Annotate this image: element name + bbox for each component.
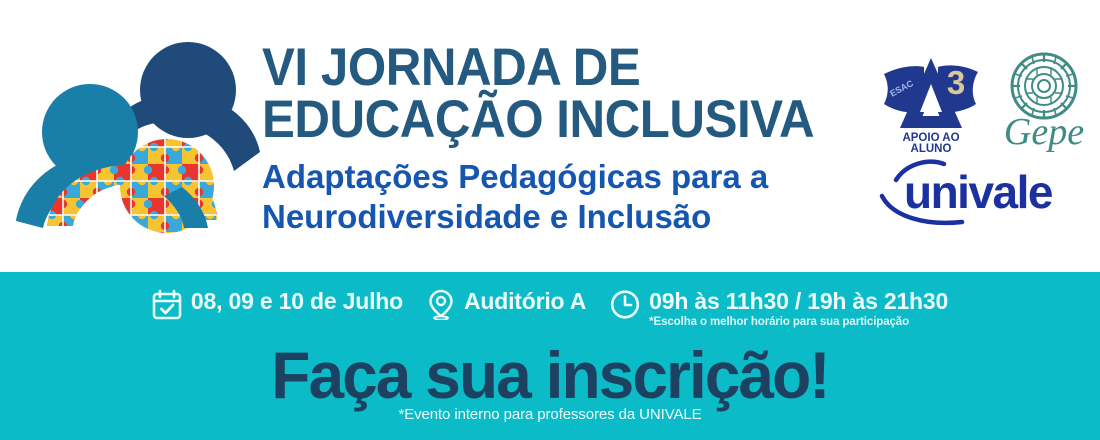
title-line-2: EDUCAÇÃO INCLUSIVA (262, 94, 820, 146)
event-subtitle-block: Adaptações Pedagógicas para a Neurodiver… (262, 157, 862, 238)
event-info-row: 08, 09 e 10 de Julho Auditório A (0, 288, 1100, 336)
clock-icon (610, 289, 640, 320)
event-title-block: VI JORNADA DE EDUCAÇÃO INCLUSIVA Adaptaç… (262, 42, 862, 237)
banner-info-section: 08, 09 e 10 de Julho Auditório A (0, 272, 1100, 440)
info-time-note: *Escolha o melhor horário para sua parti… (649, 315, 948, 329)
partner-logos: 3 ESAC APOIO AO ALUNO (868, 42, 1093, 232)
location-pin-icon (427, 289, 455, 320)
info-item-time: 09h às 11h30 / 19h às 21h30 *Escolha o m… (610, 288, 948, 329)
univale-logo: univale (878, 154, 1078, 228)
univale-wordmark: univale (904, 166, 1053, 218)
a3-label-line-2: ALUNO (911, 143, 952, 154)
cta-headline: Faça sua inscrição! (17, 340, 1084, 410)
info-date-text: 08, 09 e 10 de Julho (191, 288, 403, 314)
subtitle-line-1: Adaptações Pedagógicas para a (262, 157, 862, 197)
gepe-wordmark: Gepe (1004, 111, 1084, 152)
info-time-group: 09h às 11h30 / 19h às 21h30 *Escolha o m… (649, 288, 948, 329)
title-line-1: VI JORNADA DE (262, 42, 820, 94)
banner-header-section: VI JORNADA DE EDUCAÇÃO INCLUSIVA Adaptaç… (0, 0, 1100, 272)
event-banner: VI JORNADA DE EDUCAÇÃO INCLUSIVA Adaptaç… (0, 0, 1100, 440)
info-time-text: 09h às 11h30 / 19h às 21h30 (649, 288, 948, 314)
info-location-text: Auditório A (464, 288, 586, 314)
calendar-check-icon (152, 289, 182, 320)
gepe-emblem (1012, 54, 1076, 118)
a3-apoio-ao-aluno-logo: 3 ESAC APOIO AO ALUNO (876, 42, 986, 154)
subtitle-line-2: Neurodiversidade e Inclusão (262, 197, 862, 237)
inclusive-education-figures-logo (12, 28, 262, 258)
gepe-logo: Gepe (996, 48, 1092, 152)
info-item-location: Auditório A (427, 288, 586, 320)
call-to-action-block: Faça sua inscrição! *Evento interno para… (0, 340, 1100, 424)
a3-numeral: 3 (947, 64, 965, 101)
info-item-date: 08, 09 e 10 de Julho (152, 288, 403, 320)
